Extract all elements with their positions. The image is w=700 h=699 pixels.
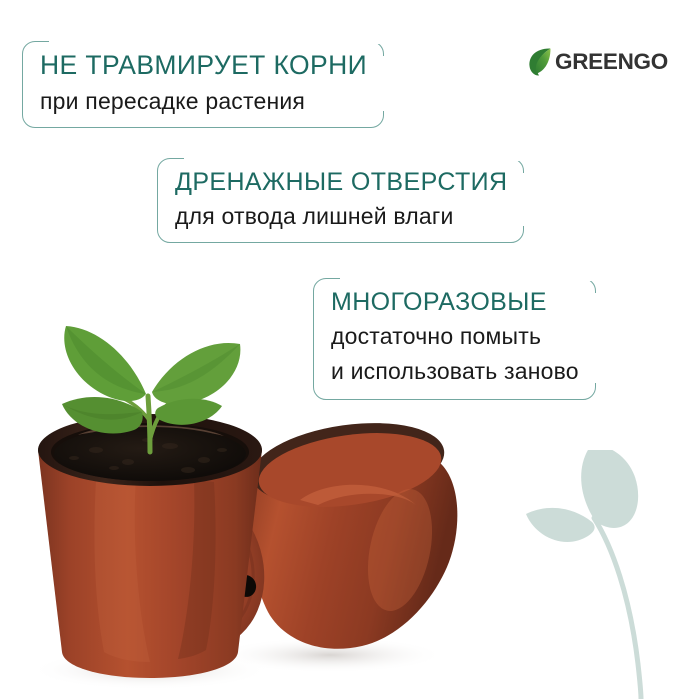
leaf-icon	[527, 47, 553, 77]
product-photo	[0, 300, 500, 699]
callout-1-title: НЕ ТРАВМИРУЕТ КОРНИ	[40, 51, 367, 81]
promo-canvas: GREENGO НЕ ТРАВМИРУЕТ КОРНИ при пересадк…	[0, 0, 700, 699]
callout-2-subtitle: для отвода лишней влаги	[175, 202, 507, 231]
sprout-stem-icon	[594, 518, 641, 699]
callout-no-root-damage: НЕ ТРАВМИРУЕТ КОРНИ при пересадке растен…	[22, 41, 384, 128]
sprout-leaf-icon	[581, 450, 638, 528]
callout-2-title: ДРЕНАЖНЫЕ ОТВЕРСТИЯ	[175, 168, 507, 196]
callout-drainage-holes: ДРЕНАЖНЫЕ ОТВЕРСТИЯ для отвода лишней вл…	[157, 158, 524, 243]
decorative-sprout-graphic	[520, 450, 690, 699]
brand-logo: GREENGO	[527, 47, 668, 77]
brand-wordmark: GREENGO	[555, 51, 668, 74]
seedling-stem	[148, 396, 150, 452]
sprout-leaf-icon	[526, 508, 595, 542]
callout-1-subtitle: при пересадке растения	[40, 87, 367, 116]
